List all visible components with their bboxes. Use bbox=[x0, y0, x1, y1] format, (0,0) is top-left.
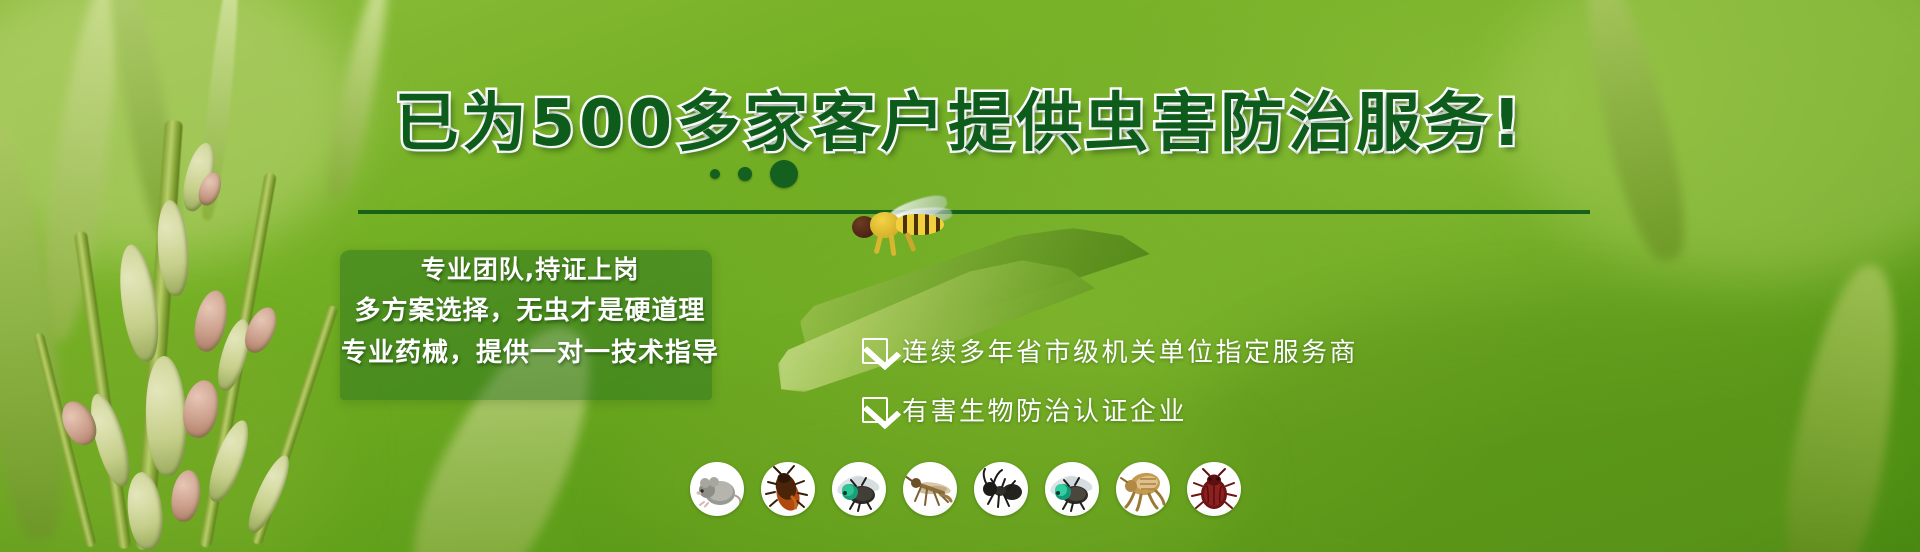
feature-line-2: 多方案选择，无虫才是硬道理 bbox=[354, 297, 705, 327]
promo-banner: 已为500多家客户提供虫害防治服务! 专业团队,持证上岗 多方案选择，无虫才是硬… bbox=[0, 0, 1920, 552]
divider bbox=[358, 210, 1590, 214]
flea-icon[interactable] bbox=[1116, 462, 1170, 516]
mouse-icon[interactable] bbox=[690, 462, 744, 516]
ant-icon[interactable] bbox=[974, 462, 1028, 516]
mosquito-icon[interactable] bbox=[903, 462, 957, 516]
checkbox-checked-icon bbox=[862, 397, 888, 423]
dot-large-icon bbox=[770, 160, 798, 188]
headline-text: 已为500多家客户提供虫害防治服务! bbox=[395, 87, 1526, 161]
feature-line-1: 专业团队,持证上岗 bbox=[421, 256, 640, 285]
feature-panel-text: 专业团队,持证上岗 多方案选择，无虫才是硬道理 专业药械，提供一对一技术指导 bbox=[330, 256, 730, 369]
dot-small-icon bbox=[710, 169, 720, 179]
greenbottle-fly-icon[interactable] bbox=[1045, 462, 1099, 516]
checklist-label: 有害生物防治认证企业 bbox=[902, 391, 1187, 428]
checklist-label: 连续多年省市级机关单位指定服务商 bbox=[902, 332, 1358, 369]
list-item: 有害生物防治认证企业 bbox=[862, 391, 1358, 428]
pest-type-icon-row bbox=[690, 462, 1241, 516]
list-item: 连续多年省市级机关单位指定服务商 bbox=[862, 332, 1358, 369]
grass-blade-decor bbox=[1771, 257, 1917, 552]
page-title: 已为500多家客户提供虫害防治服务! bbox=[0, 72, 1920, 164]
feature-line-3: 专业药械，提供一对一技术指导 bbox=[341, 339, 719, 369]
hoverfly-on-leaf-photo bbox=[846, 198, 966, 266]
checkbox-checked-icon bbox=[862, 338, 888, 364]
bedbug-icon[interactable] bbox=[1187, 462, 1241, 516]
housefly-icon[interactable] bbox=[832, 462, 886, 516]
credentials-checklist: 连续多年省市级机关单位指定服务商 有害生物防治认证企业 bbox=[862, 332, 1358, 428]
dot-medium-icon bbox=[738, 167, 752, 181]
cockroach-icon[interactable] bbox=[761, 462, 815, 516]
decorative-dots bbox=[710, 160, 798, 188]
